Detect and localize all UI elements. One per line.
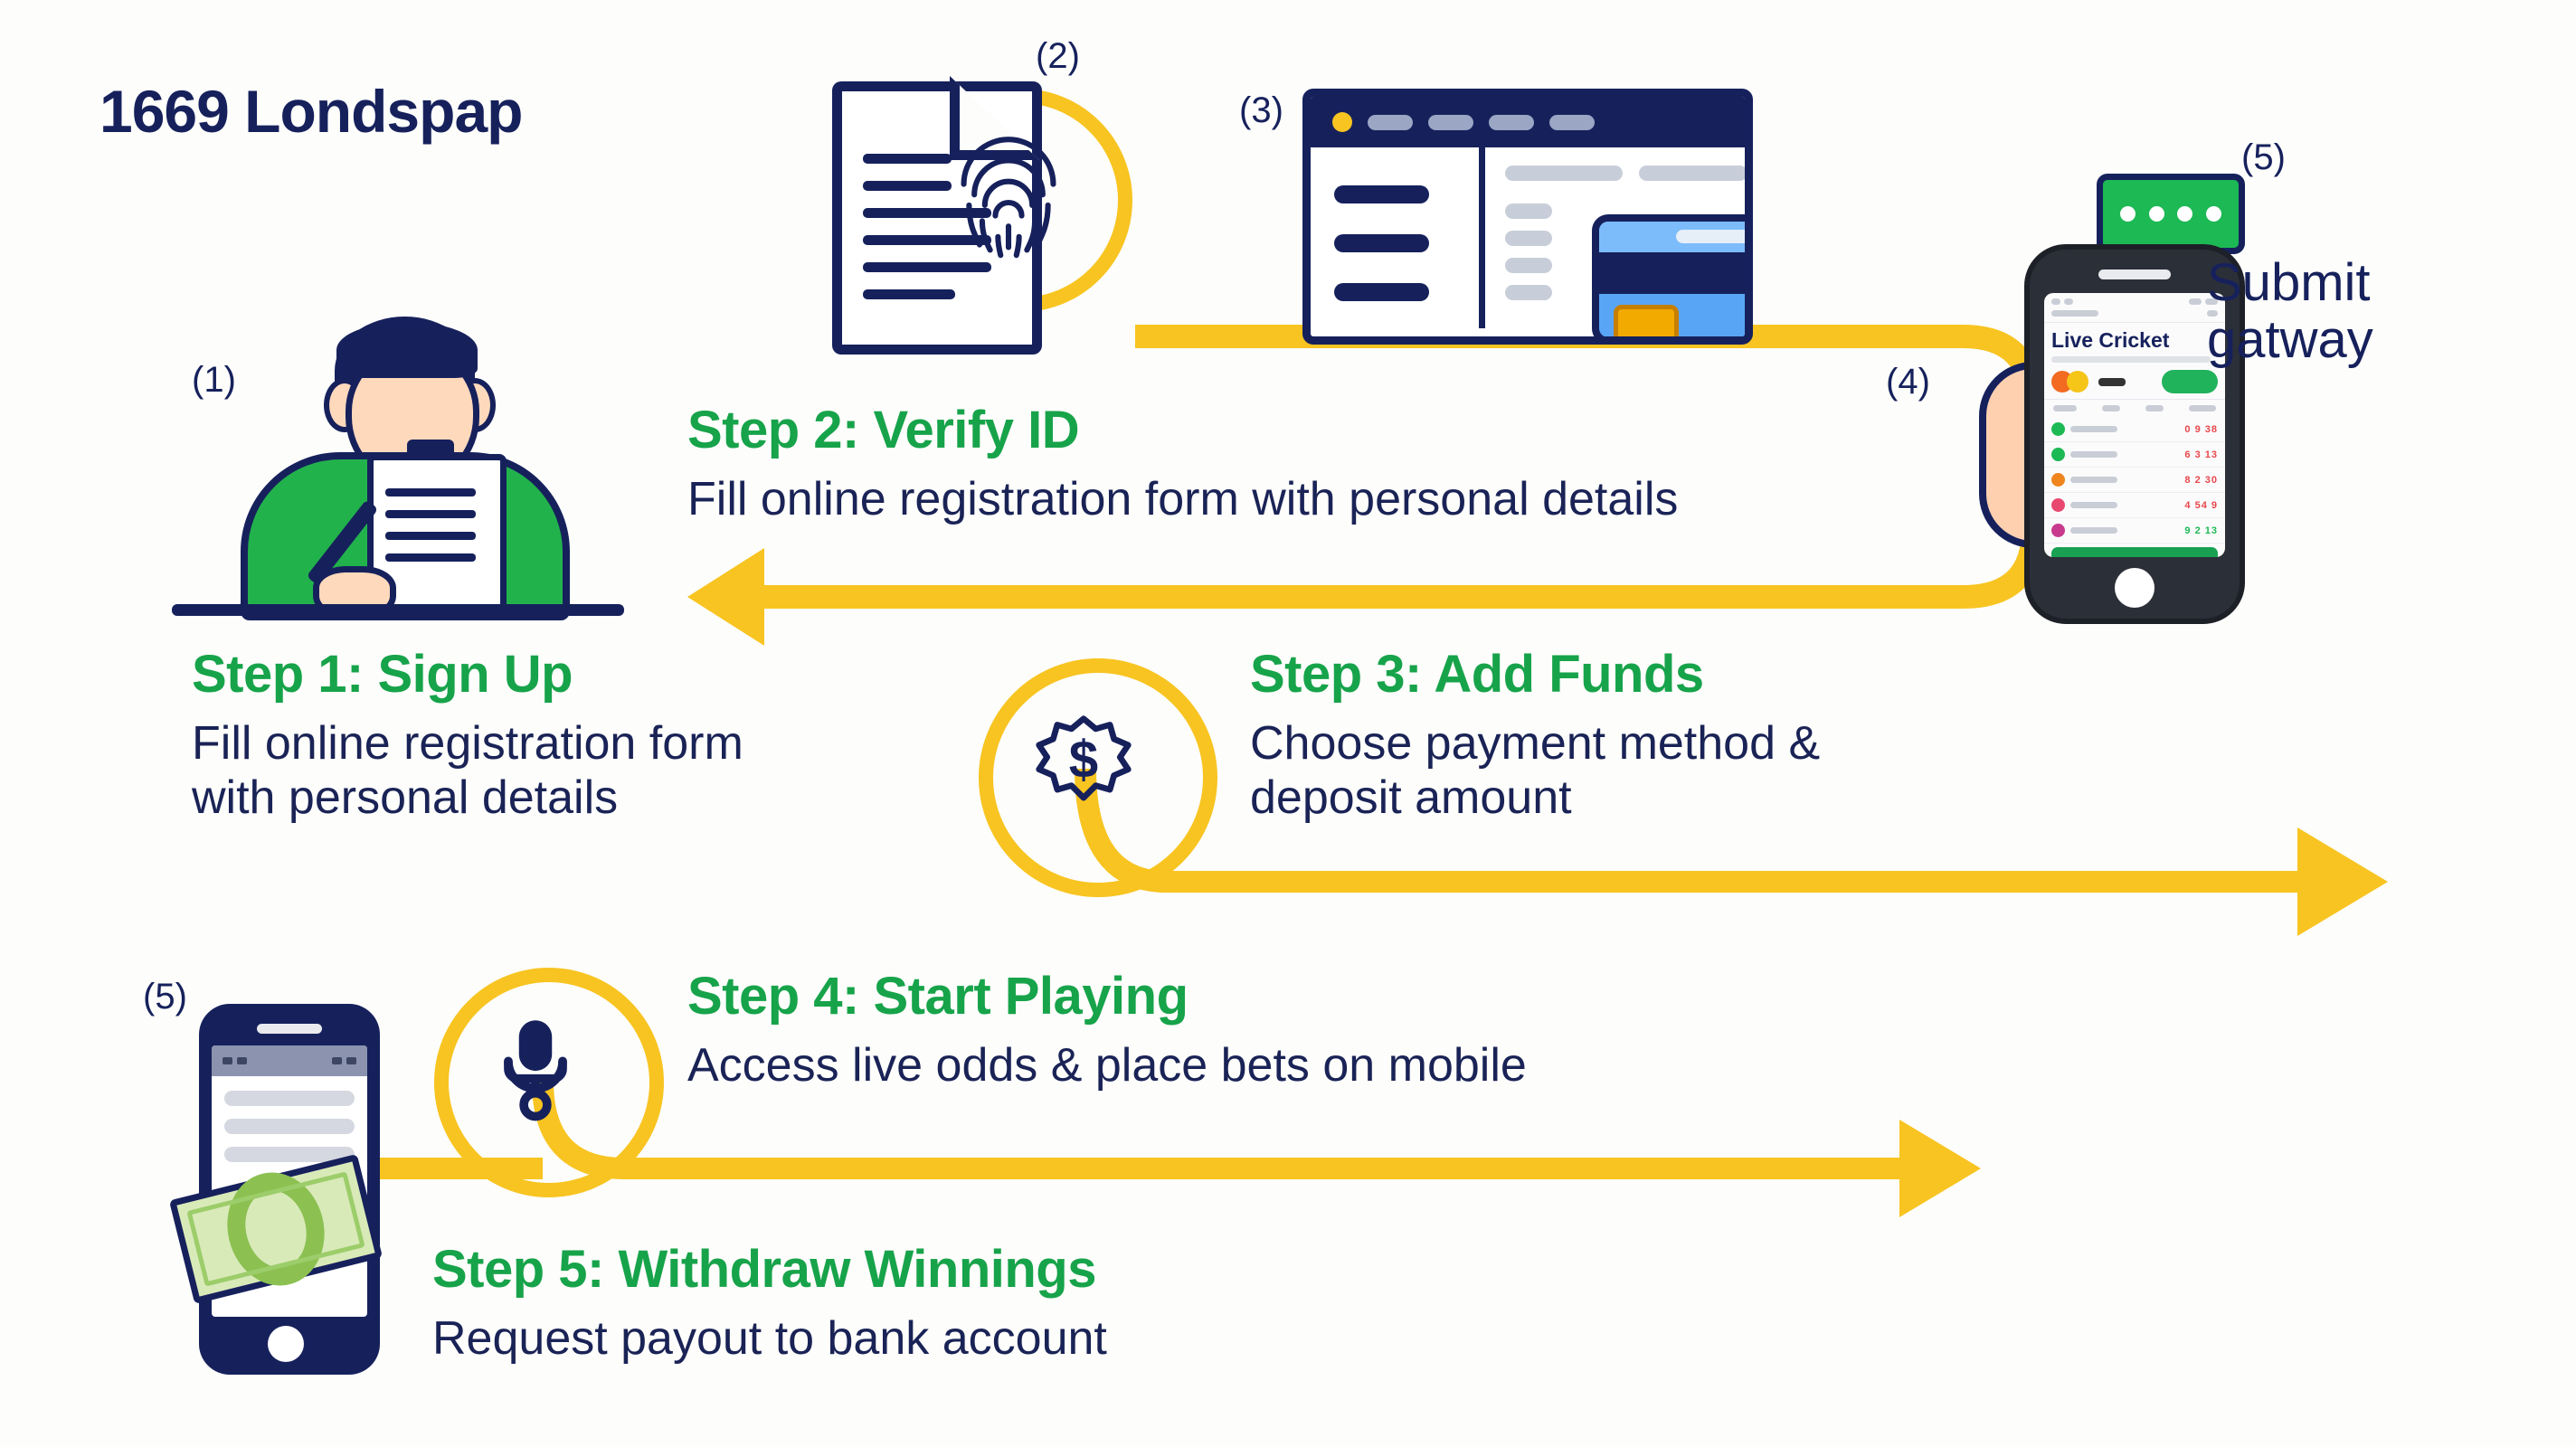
step-2-block: Step 2: Verify ID Fill online registrati… [687, 400, 1678, 527]
team-dot-icon [2051, 524, 2065, 537]
dollar-badge-icon: $ [1033, 713, 1134, 814]
fingerprint-icon [941, 116, 1076, 260]
phone-money-icon [199, 1004, 407, 1384]
team-name-placeholder [2070, 477, 2117, 483]
odds-value: 9 2 13 [2184, 525, 2218, 536]
marker-3: (3) [1239, 90, 1283, 131]
team-dot-icon [2051, 498, 2065, 512]
page-title: 1669 Londspap [99, 77, 522, 146]
step-3-block: Step 3: Add Funds Choose payment method … [1250, 644, 1820, 826]
marker-2: (2) [1036, 36, 1080, 77]
step-3-description: Choose payment method & deposit amount [1250, 717, 1820, 826]
step-5-description: Request payout to bank account [432, 1312, 1107, 1367]
phone-bottom-bar [2051, 547, 2218, 557]
phone-odds-row[interactable]: 9 2 13 [2044, 518, 2225, 544]
step-1-heading: Step 1: Sign Up [192, 644, 743, 705]
team-name-placeholder [2070, 451, 2117, 458]
step-2-description: Fill online registration form with perso… [687, 473, 1678, 527]
submit-gateway-line2: gatway [2207, 312, 2373, 369]
step-3-heading: Step 3: Add Funds [1250, 644, 1820, 705]
window-tab-pill [1549, 115, 1595, 130]
marker-5-bottom: (5) [143, 977, 187, 1017]
team-dot-icon [2051, 473, 2065, 487]
team-dot-icon [2051, 422, 2065, 436]
phone-app-title: Live Cricket [2044, 323, 2225, 355]
step-4-description: Access live odds & place bets on mobile [687, 1039, 1527, 1093]
phone-odds-list: 0 9 386 3 138 2 304 54 99 2 13 [2044, 417, 2225, 544]
step-1-block: Step 1: Sign Up Fill online registration… [192, 644, 743, 826]
odds-value: 4 54 9 [2184, 500, 2218, 511]
marker-4: (4) [1886, 362, 1930, 402]
odds-value: 0 9 38 [2184, 424, 2218, 435]
team-name-placeholder [2070, 502, 2117, 508]
window-tab-pill [1428, 115, 1473, 130]
marker-1: (1) [192, 360, 236, 401]
odds-value: 6 3 13 [2184, 449, 2218, 460]
microphone-icon [487, 1017, 584, 1123]
step-1-description: Fill online registration form with perso… [192, 717, 743, 826]
window-titlebar [1311, 97, 1745, 147]
step-4-heading: Step 4: Start Playing [687, 966, 1527, 1026]
phone-odds-row[interactable]: 0 9 38 [2044, 417, 2225, 442]
team-name-placeholder [2070, 527, 2117, 534]
team-dot-icon [2051, 448, 2065, 461]
submit-gateway-label: Submit gatway [2207, 255, 2373, 368]
phone-screen: Live Cricket [2044, 293, 2225, 557]
odds-value: 8 2 30 [2184, 475, 2218, 486]
step-5-heading: Step 5: Withdraw Winnings [432, 1239, 1107, 1300]
person-writing-icon [208, 317, 588, 615]
team-name-placeholder [2070, 426, 2117, 432]
phone-odds-row[interactable]: 8 2 30 [2044, 468, 2225, 493]
svg-text:$: $ [1069, 731, 1098, 790]
chat-bubble-icon [2097, 174, 2245, 254]
window-tab-pill [1489, 115, 1534, 130]
window-sidebar [1311, 147, 1485, 328]
infographic-canvas: 1669 Londspap (1) [0, 0, 2576, 1447]
step-5-block: Step 5: Withdraw Winnings Request payout… [432, 1239, 1107, 1367]
payment-window [1302, 89, 1753, 345]
credit-card-icon [1592, 214, 1753, 345]
marker-5-top: (5) [2241, 137, 2286, 178]
window-tab-pill [1368, 115, 1413, 130]
phone-odds-row[interactable]: 6 3 13 [2044, 442, 2225, 468]
submit-gateway-line1: Submit [2207, 255, 2373, 312]
phone-home-button [2115, 568, 2155, 608]
step-4-block: Step 4: Start Playing Access live odds &… [687, 966, 1527, 1093]
step-2-heading: Step 2: Verify ID [687, 400, 1678, 460]
phone-odds-row[interactable]: 4 54 9 [2044, 493, 2225, 518]
window-dot-icon [1332, 112, 1352, 132]
